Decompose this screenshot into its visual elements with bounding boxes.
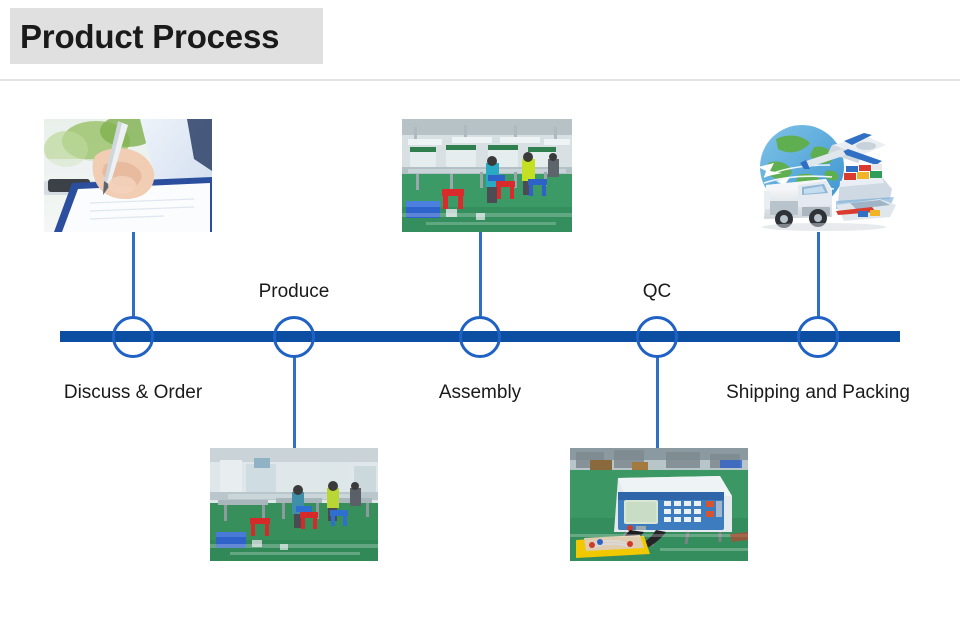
photo-discuss-order <box>44 119 212 232</box>
timeline-node-5[interactable] <box>797 316 839 358</box>
connector-line-2 <box>293 356 296 448</box>
photo-produce <box>210 448 378 561</box>
connector-line-5 <box>817 232 820 318</box>
timeline-node-2[interactable] <box>273 316 315 358</box>
connector-line-1 <box>132 232 135 318</box>
product-process-slide: Product Process <box>0 0 960 617</box>
photo-qc <box>570 448 748 561</box>
stage-label-shipping: Shipping and Packing <box>726 383 910 402</box>
connector-line-4 <box>656 356 659 448</box>
timeline-node-1[interactable] <box>112 316 154 358</box>
page-title: Product Process <box>20 20 279 53</box>
timeline-node-4[interactable] <box>636 316 678 358</box>
stage-label-discuss-order: Discuss & Order <box>64 383 202 402</box>
photo-assembly <box>402 119 572 232</box>
photo-shipping <box>740 119 900 232</box>
stage-label-produce: Produce <box>259 282 330 301</box>
stage-label-qc: QC <box>643 282 672 301</box>
stage-label-assembly: Assembly <box>439 383 521 402</box>
title-bar: Product Process <box>10 8 323 64</box>
timeline-node-3[interactable] <box>459 316 501 358</box>
header-divider <box>0 79 960 81</box>
connector-line-3 <box>479 232 482 318</box>
